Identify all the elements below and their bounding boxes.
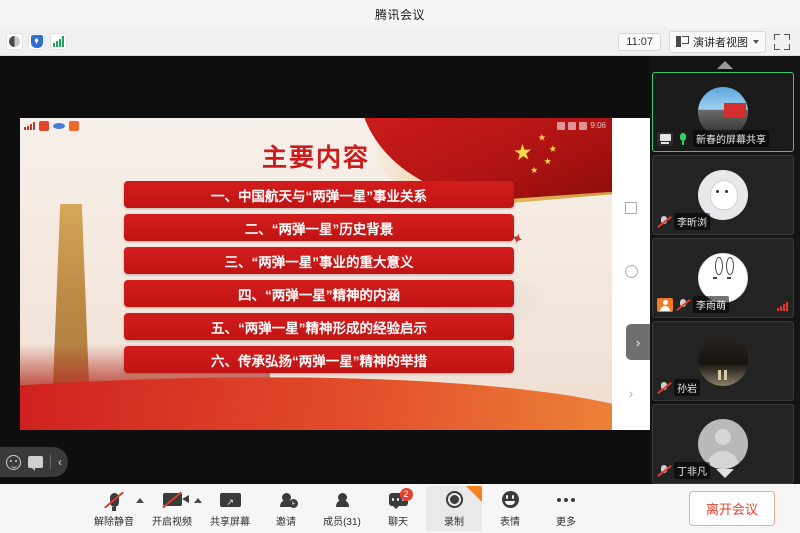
invite-person-icon: + xyxy=(273,490,299,510)
meeting-tool-group: 解除静音 开启视频 共享屏幕 + 邀请 xyxy=(86,486,594,531)
triangle-up-icon xyxy=(717,61,733,69)
invite-label: 邀请 xyxy=(276,513,296,528)
slide-agenda-item: 三、“两弹一星”事业的重大意义 xyxy=(124,247,514,274)
slide-title: 主要内容 xyxy=(20,138,612,174)
android-navigation-bar: › xyxy=(612,118,650,430)
chat-unread-badge: 2 xyxy=(400,488,413,501)
divider xyxy=(50,455,51,469)
square-icon[interactable] xyxy=(625,202,637,214)
mic-on-icon xyxy=(676,132,690,146)
status-icon-group xyxy=(0,33,67,50)
circle-icon[interactable] xyxy=(625,265,638,278)
record-button[interactable]: NEW 录制 xyxy=(426,486,482,531)
camera-off-icon xyxy=(159,490,185,510)
phone-status-bar-right: 9:06 xyxy=(557,121,606,130)
shield-icon[interactable] xyxy=(28,33,45,50)
view-selector[interactable]: 演讲者视图 xyxy=(669,31,766,53)
meeting-controls-bar: 解除静音 开启视频 共享屏幕 + 邀请 xyxy=(0,484,800,533)
slide-agenda-list: 一、中国航天与“两弹一星”事业关系 二、“两弹一星”历史背景 三、“两弹一星”事… xyxy=(124,181,514,379)
more-label: 更多 xyxy=(556,513,576,528)
share-screen-label: 共享屏幕 xyxy=(210,513,250,528)
phone-signal-icon xyxy=(24,122,35,130)
network-signal-icon xyxy=(777,302,788,311)
participants-label: 成员(31) xyxy=(323,513,361,528)
participant-tile[interactable]: 孙岩 xyxy=(652,321,794,401)
emoji-icon[interactable] xyxy=(6,455,21,470)
phone-status-bar-left xyxy=(24,121,79,131)
new-ribbon-badge: NEW xyxy=(466,486,482,502)
slide-agenda-item: 五、“两弹一星”精神形成的经验启示 xyxy=(124,313,514,340)
stage-quick-actions: ‹ xyxy=(0,447,68,477)
mute-button-label: 解除静音 xyxy=(94,513,134,528)
record-label: 录制 xyxy=(444,513,464,528)
participant-name: 李雨萌 xyxy=(693,296,729,313)
share-screen-icon xyxy=(217,490,243,510)
view-selector-label: 演讲者视图 xyxy=(693,34,748,50)
presentation-slide: ★★ ★★★ ✦ 9:06 主要内容 xyxy=(20,118,612,430)
sub-toolbar-right: 11:07 演讲者视图 xyxy=(618,31,800,53)
participants-button[interactable]: 成员(31) xyxy=(314,486,370,531)
invite-button[interactable]: + 邀请 xyxy=(258,486,314,531)
mic-muted-icon xyxy=(676,298,690,312)
app-title: 腾讯会议 xyxy=(375,6,425,23)
participant-tile-list: 新春的屏幕共享 李昕浏 李雨萌 xyxy=(652,72,798,487)
avatar xyxy=(698,336,748,386)
participant-namebar: 李昕浏 xyxy=(657,213,710,230)
shared-screen-stage[interactable]: ★★ ★★★ ✦ 9:06 主要内容 xyxy=(0,56,650,484)
meeting-clock: 11:07 xyxy=(618,33,661,51)
slide-agenda-item: 六、传承弘扬“两弹一星”精神的举措 xyxy=(124,346,514,373)
chevron-down-icon xyxy=(753,40,759,44)
participants-icon xyxy=(329,490,355,510)
scroll-down-button[interactable] xyxy=(650,466,800,480)
participants-panel: 新春的屏幕共享 李昕浏 李雨萌 xyxy=(650,56,800,484)
participant-namebar: 李雨萌 xyxy=(657,296,729,313)
participant-name: 新春的屏幕共享 xyxy=(693,130,769,147)
mic-muted-icon xyxy=(657,381,671,395)
scroll-up-button[interactable] xyxy=(650,58,800,72)
phone-clock: 9:06 xyxy=(590,121,606,130)
chat-icon[interactable] xyxy=(28,456,43,468)
participant-name: 李昕浏 xyxy=(674,213,710,230)
slide-agenda-item: 二、“两弹一星”历史背景 xyxy=(124,214,514,241)
meeting-window: 腾讯会议 11:07 演讲者视图 xyxy=(0,0,800,533)
share-screen-button[interactable]: 共享屏幕 xyxy=(202,486,258,531)
more-button[interactable]: 更多 xyxy=(538,486,594,531)
leave-meeting-button[interactable]: 离开会议 xyxy=(689,491,775,526)
panel-collapse-handle[interactable]: › xyxy=(626,324,650,360)
participant-tile[interactable]: 新春的屏幕共享 xyxy=(652,72,794,152)
more-dots-icon xyxy=(553,490,579,510)
participant-tile[interactable]: 李昕浏 xyxy=(652,155,794,235)
slide-agenda-item: 四、“两弹一星”精神的内涵 xyxy=(124,280,514,307)
mute-button[interactable]: 解除静音 xyxy=(86,486,142,531)
fullscreen-icon[interactable] xyxy=(774,34,790,50)
signal-bars-icon[interactable] xyxy=(50,33,67,50)
chat-label: 聊天 xyxy=(388,513,408,528)
shared-phone-frame: ★★ ★★★ ✦ 9:06 主要内容 xyxy=(20,118,650,430)
chat-button[interactable]: 2 聊天 xyxy=(370,486,426,531)
layout-icon xyxy=(676,36,688,47)
phone-app-icon xyxy=(69,121,79,131)
dark-circle-icon[interactable] xyxy=(6,33,23,50)
video-button-label: 开启视频 xyxy=(152,513,192,528)
collapse-left-icon[interactable]: ‹ xyxy=(58,455,62,469)
phone-mic-icon xyxy=(39,121,49,131)
chevron-right-icon[interactable]: › xyxy=(629,386,633,401)
chat-icon: 2 xyxy=(385,490,411,510)
meeting-sub-toolbar: 11:07 演讲者视图 xyxy=(0,28,800,56)
host-badge-icon xyxy=(657,298,673,312)
mic-muted-icon xyxy=(101,490,127,510)
video-button[interactable]: 开启视频 xyxy=(144,486,200,531)
mic-muted-icon xyxy=(657,215,671,229)
participant-tile[interactable]: 李雨萌 xyxy=(652,238,794,318)
emoji-label: 表情 xyxy=(500,513,520,528)
participant-name: 孙岩 xyxy=(674,379,700,396)
triangle-down-icon xyxy=(716,469,734,478)
participant-namebar: 新春的屏幕共享 xyxy=(657,130,769,147)
window-title-bar: 腾讯会议 xyxy=(0,0,800,28)
emoji-icon xyxy=(497,490,523,510)
phone-bluetooth-icon xyxy=(53,123,65,129)
slide-agenda-item: 一、中国航天与“两弹一星”事业关系 xyxy=(124,181,514,208)
participant-namebar: 孙岩 xyxy=(657,379,700,396)
screen-share-icon xyxy=(657,132,673,146)
record-icon xyxy=(441,490,467,510)
emoji-button[interactable]: 表情 xyxy=(482,486,538,531)
